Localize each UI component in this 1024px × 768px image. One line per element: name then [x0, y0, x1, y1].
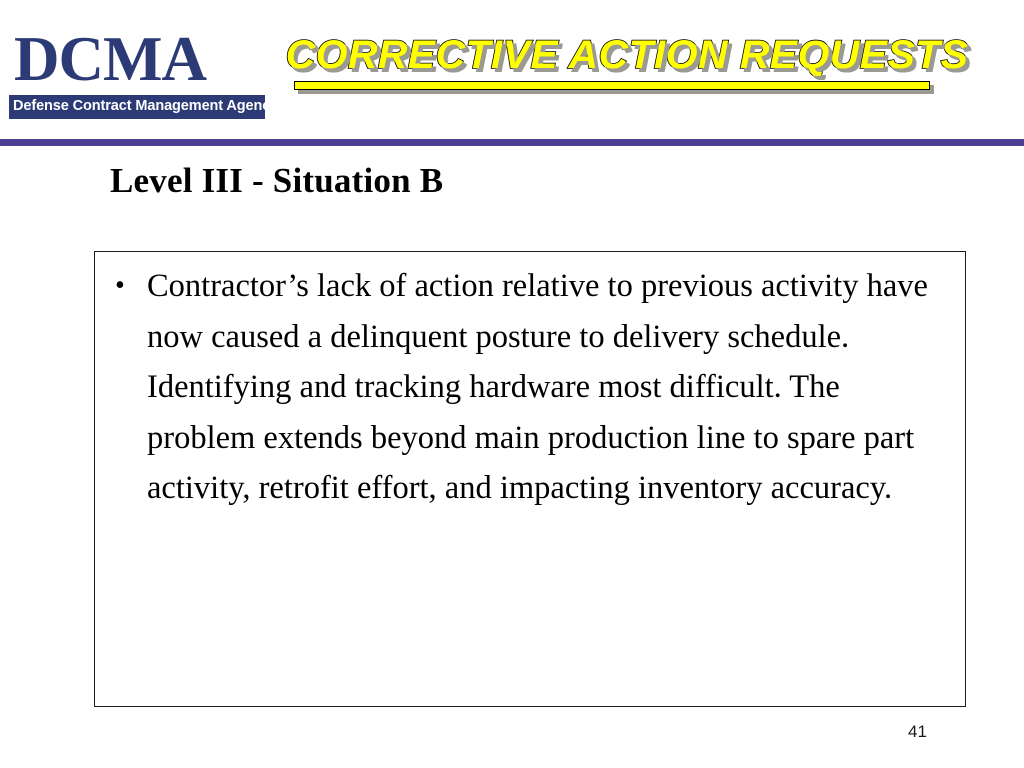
- page-title: Level III - Situation B: [110, 160, 443, 202]
- dcma-logo: DCMA Defense Contract Management Agency: [8, 26, 266, 120]
- page-number: 41: [908, 722, 927, 742]
- dcma-agency-name: Defense Contract Management Agency: [8, 94, 266, 120]
- list-item-text: Contractor’s lack of action relative to …: [147, 268, 928, 506]
- banner-title: CORRECTIVE ACTION REQUESTS: [286, 32, 939, 78]
- list-item: • Contractor’s lack of action relative t…: [109, 261, 955, 514]
- slide-root: DCMA Defense Contract Management Agency …: [0, 0, 1024, 768]
- dcma-wordmark: DCMA: [8, 26, 266, 92]
- banner-underline-bar: [294, 81, 930, 90]
- bullet-list: • Contractor’s lack of action relative t…: [95, 252, 965, 514]
- banner-title-block: CORRECTIVE ACTION REQUESTS: [292, 32, 932, 90]
- bullet-point-icon: •: [115, 261, 125, 312]
- content-box: • Contractor’s lack of action relative t…: [94, 251, 966, 707]
- header-divider-rule: [0, 139, 1024, 146]
